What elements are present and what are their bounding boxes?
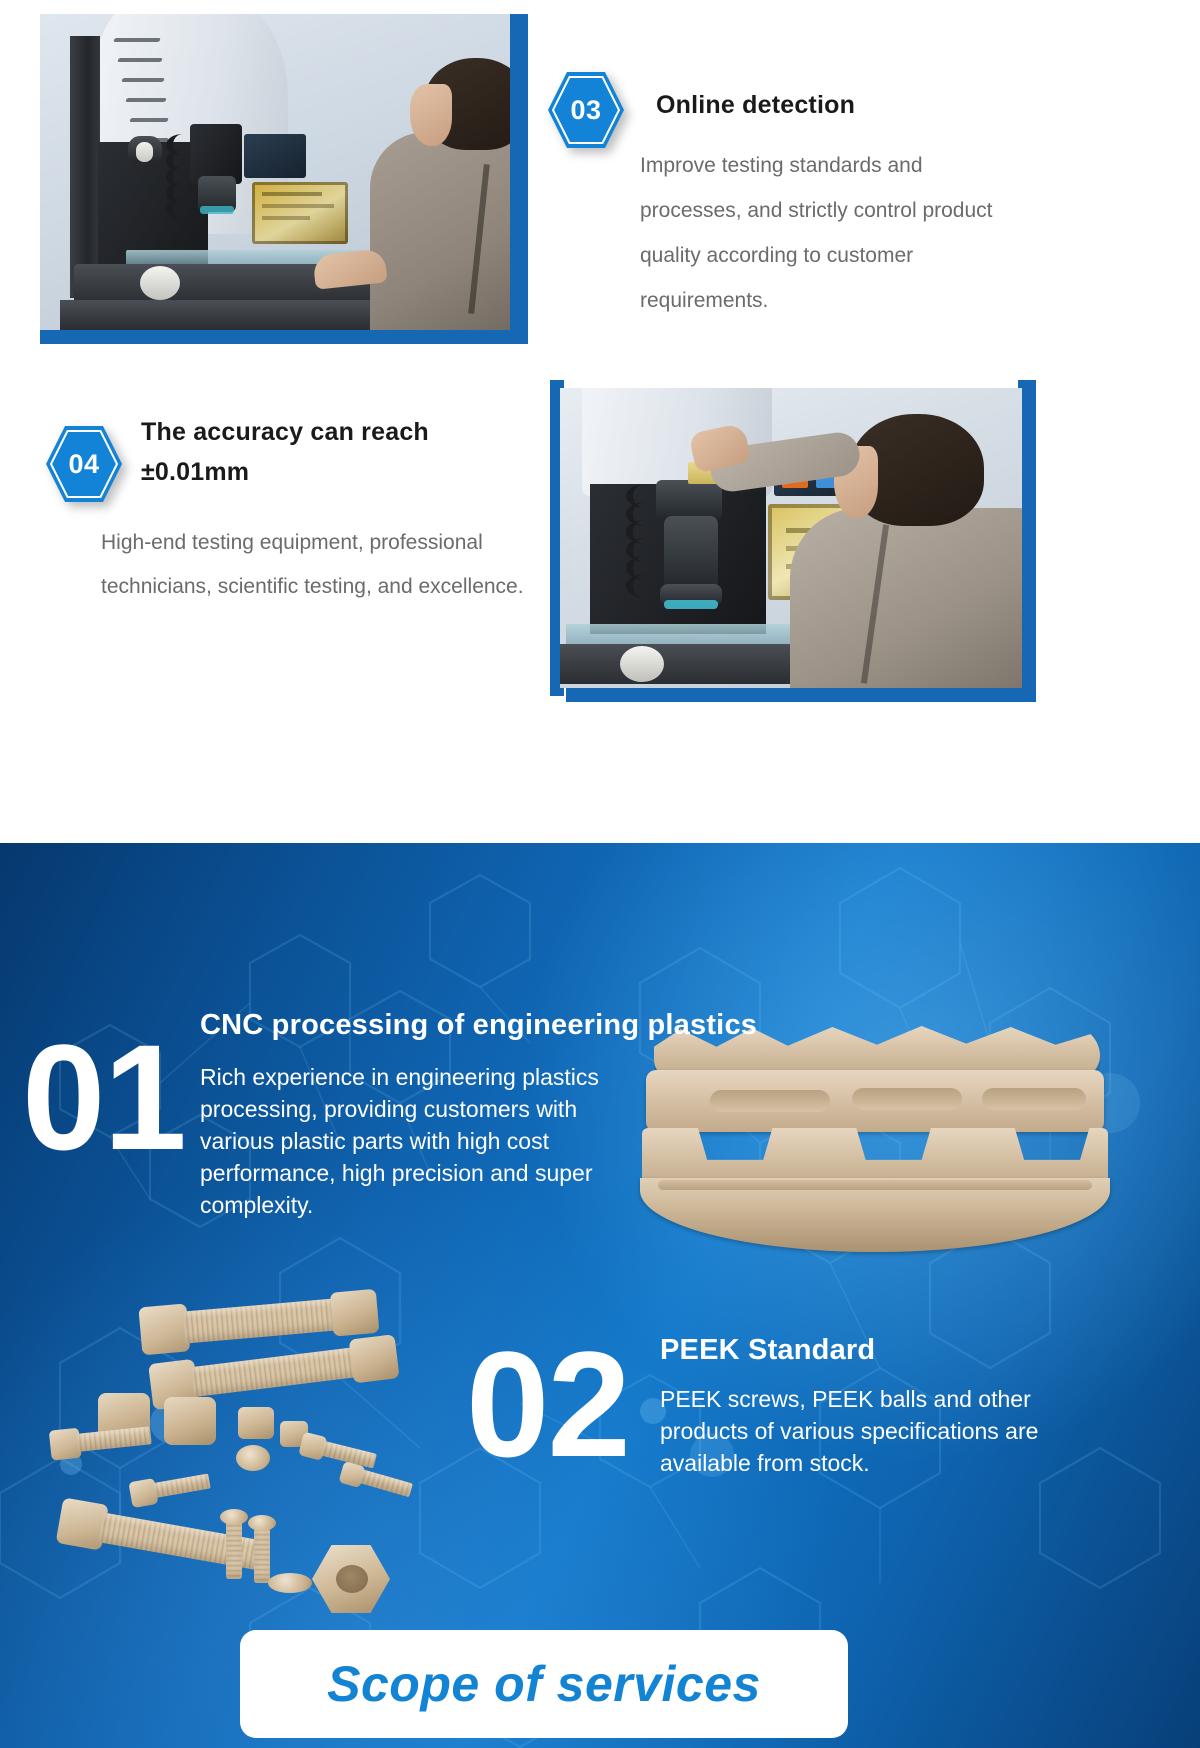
scope-item-01-title: CNC processing of engineering plastics	[200, 1009, 960, 1042]
feature-03-number: 03	[544, 68, 628, 152]
feature-04-number: 04	[42, 422, 126, 506]
scope-item-01-number: 01	[22, 1022, 185, 1172]
feature-03-photo	[40, 14, 510, 330]
frame-accent-bottom	[566, 688, 1036, 702]
feature-04-number-badge: 04	[42, 422, 126, 506]
feature-03-body: Improve testing standards and processes,…	[640, 143, 1020, 323]
feature-04-title: The accuracy can reach ±0.01mm	[141, 412, 501, 492]
scope-item-02-title: PEEK Standard	[660, 1334, 1080, 1367]
scope-banner-card: Scope of services	[240, 1630, 848, 1738]
scope-banner-title: Scope of services	[327, 1655, 761, 1713]
scope-item-02-body: PEEK screws, PEEK balls and other produc…	[660, 1383, 1062, 1479]
scope-of-services-section: Scope of services 01 CNC processing of e…	[0, 843, 1200, 1748]
feature-03-number-badge: 03	[544, 68, 628, 152]
features-section: 03 Online detection Improve testing stan…	[0, 0, 1200, 843]
peek-curved-part-image	[640, 1018, 1110, 1278]
product-feature-page: 03 Online detection Improve testing stan…	[0, 0, 1200, 1748]
feature-04-body: High-end testing equipment, professional…	[101, 521, 531, 609]
feature-04-photo	[560, 388, 1022, 688]
scope-item-02-number: 02	[466, 1329, 629, 1479]
frame-accent-bottom	[40, 330, 528, 344]
scope-item-01-body: Rich experience in engineering plastics …	[200, 1061, 630, 1221]
feature-03-title: Online detection	[656, 85, 1106, 125]
